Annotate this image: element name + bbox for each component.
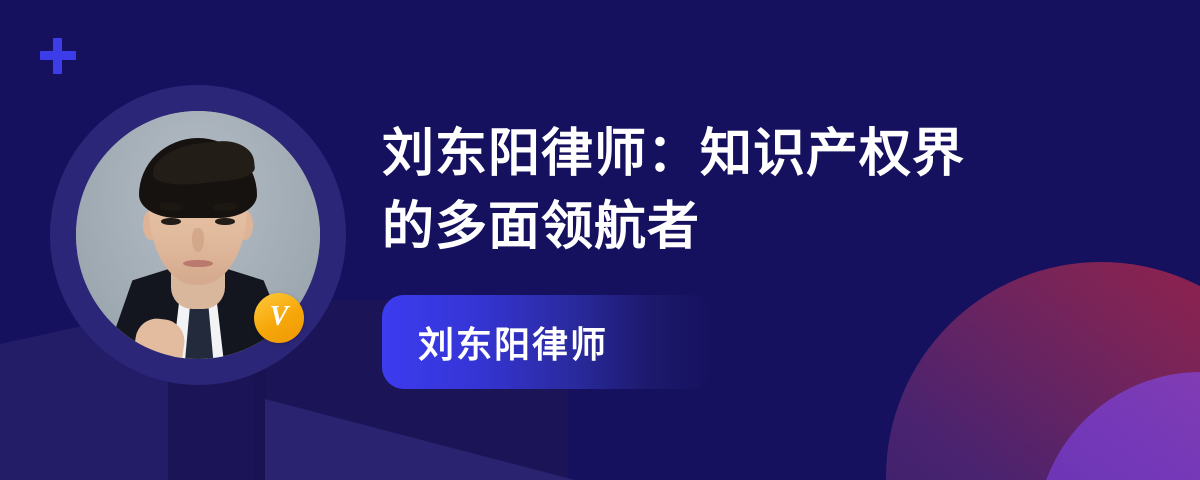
background-circle-large [886,262,1200,480]
avatar[interactable]: V [50,85,346,385]
profile-banner: V 刘东阳律师：知识产权界 的多面领航者 刘东阳律师 [0,0,1200,480]
lawyer-name-button[interactable]: 刘东阳律师 [382,295,712,389]
verified-badge-letter: V [270,303,289,331]
background-circle-small [1036,372,1200,480]
headline-block: 刘东阳律师：知识产权界 的多面领航者 [382,118,1122,264]
verified-badge-icon: V [254,293,304,343]
page-title: 刘东阳律师：知识产权界 的多面领航者 [382,118,1122,264]
plus-icon [40,38,76,74]
